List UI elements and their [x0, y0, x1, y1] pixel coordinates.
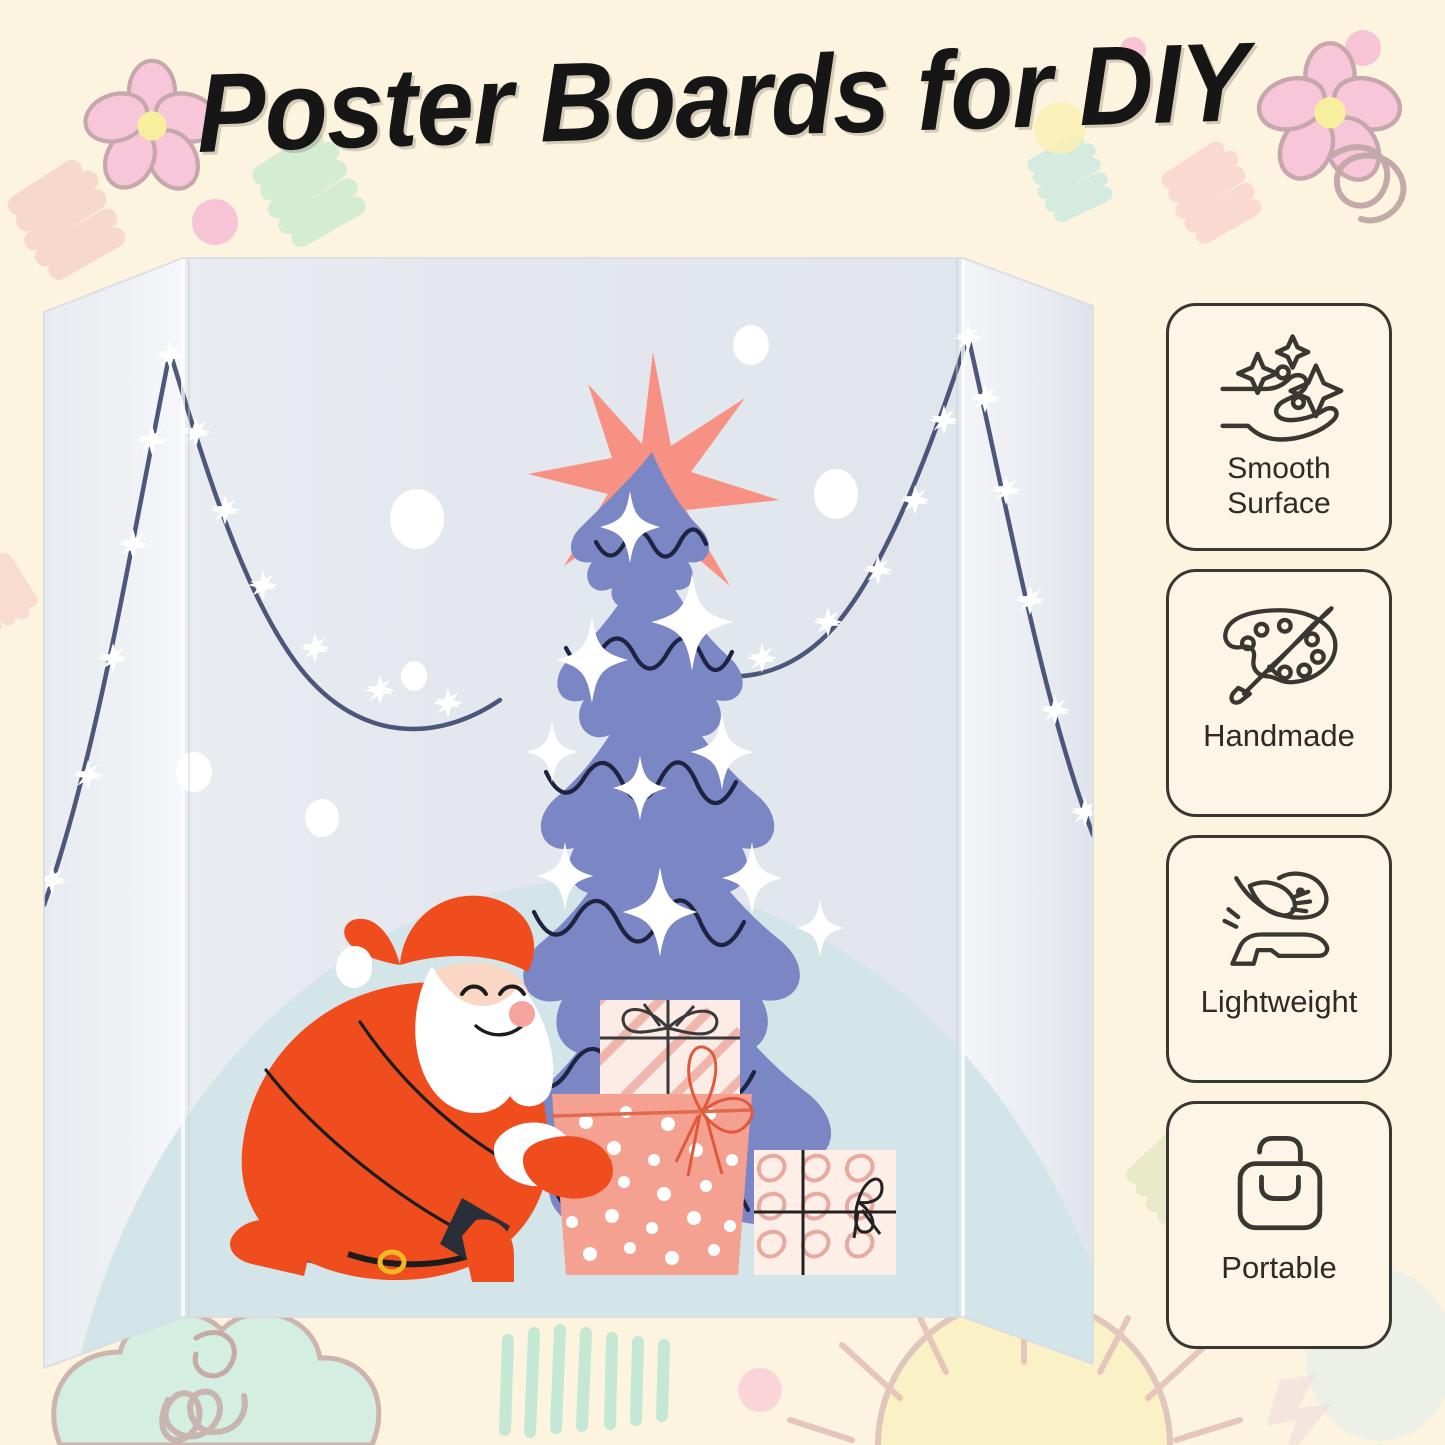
briefcase-icon — [1211, 1126, 1347, 1244]
page-title: Poster Boards for DIY — [196, 26, 1250, 170]
product-marketing-image: Poster Boards for DIY Smooth Surface — [0, 0, 1445, 1445]
paint-palette-brush-icon — [1211, 594, 1347, 712]
santa-nose — [509, 1001, 535, 1027]
feature-badge-smooth-surface[interactable]: Smooth Surface — [1166, 303, 1392, 551]
feature-badge-handmade[interactable]: Handmade — [1166, 569, 1392, 817]
santa-hat-pompom — [338, 946, 372, 980]
gift-loops-right — [754, 1150, 896, 1275]
feature-badge-portable[interactable]: Portable — [1166, 1101, 1392, 1349]
label-line-2: Surface — [1227, 487, 1330, 520]
label-line-1: Smooth — [1227, 452, 1330, 485]
feature-badge-label: Lightweight — [1195, 984, 1364, 1020]
feature-badge-column: Smooth Surface — [1166, 303, 1392, 1349]
feature-badge-label: Smooth Surface — [1221, 452, 1336, 522]
hand-sparkle-icon — [1211, 328, 1347, 446]
feature-badge-label: Handmade — [1197, 718, 1361, 754]
feather-on-hand-icon — [1211, 860, 1347, 978]
feature-badge-label: Portable — [1215, 1250, 1342, 1286]
page-title-wrap: Poster Boards for DIY — [0, 42, 1445, 154]
feature-badge-lightweight[interactable]: Lightweight — [1166, 835, 1392, 1083]
